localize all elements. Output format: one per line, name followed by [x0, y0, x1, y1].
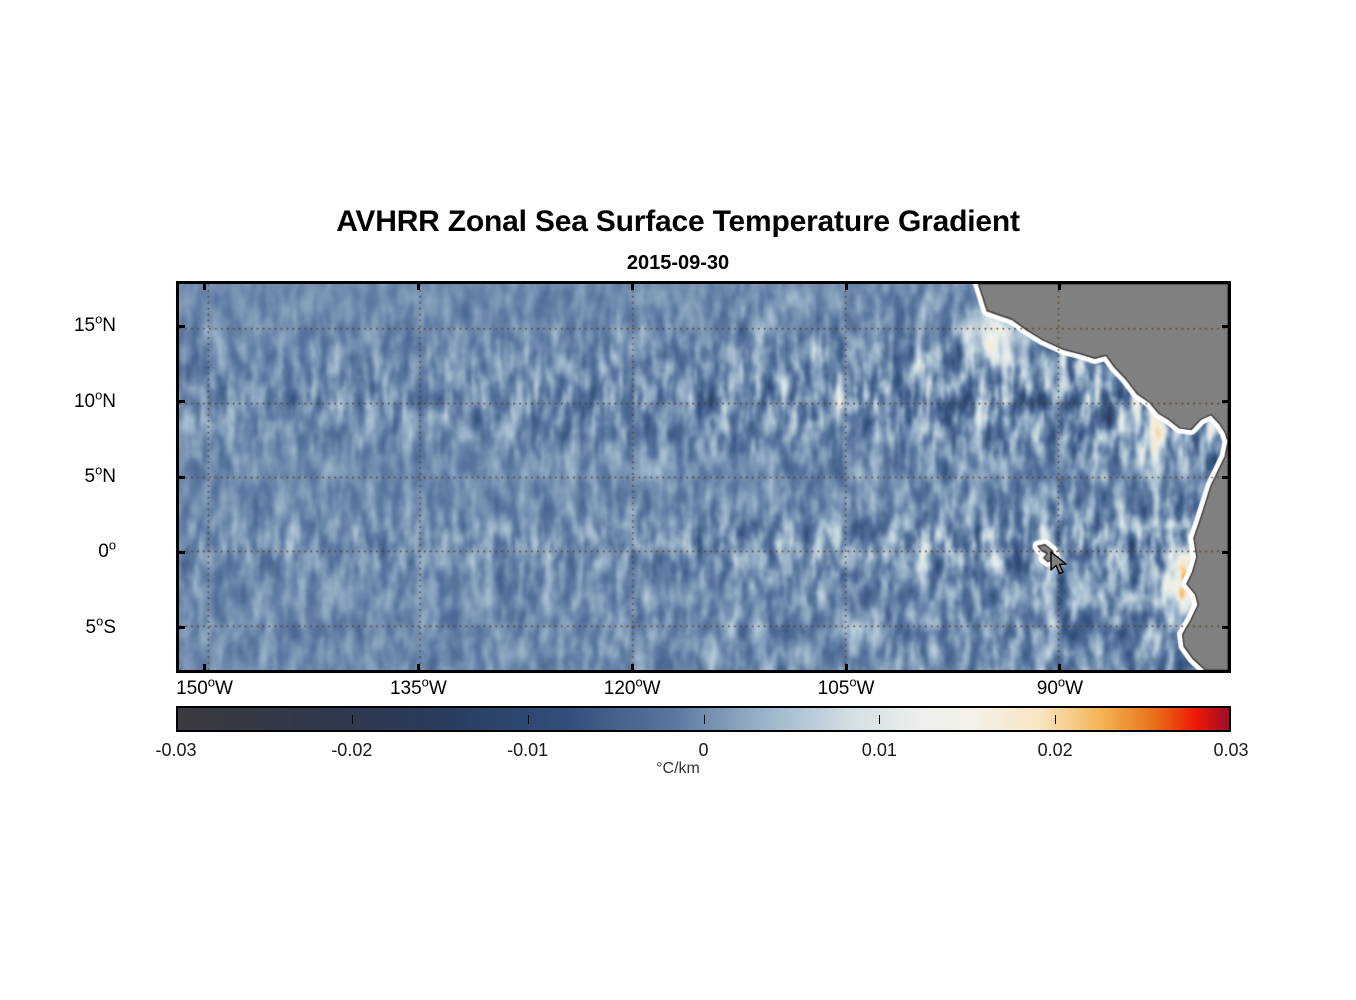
colorbar-unit-label: °C/km	[0, 760, 1356, 778]
colorbar-tick-label: 0.01	[862, 740, 897, 761]
y-tick-label: 15oN	[74, 315, 116, 337]
y-tick-mark	[1222, 551, 1231, 554]
y-tick-label: 0o	[98, 541, 116, 563]
y-tick-label: 5oS	[86, 617, 116, 639]
colorbar-unit-text: °C/km	[656, 760, 700, 777]
x-tick-mark	[417, 664, 420, 673]
x-tick-mark	[203, 664, 206, 673]
y-tick-mark	[1222, 476, 1231, 479]
colorbar-tick-label: 0.02	[1038, 740, 1073, 761]
y-tick-mark	[176, 400, 185, 403]
y-tick-mark	[1222, 325, 1231, 328]
colorbar-tick-mark	[528, 715, 529, 724]
colorbar-tick-mark	[879, 715, 880, 724]
map-axes	[176, 281, 1231, 673]
colorbar-tick-label: -0.01	[507, 740, 548, 761]
x-tick-label: 120oW	[604, 678, 661, 700]
colorbar-tick-label: 0	[698, 740, 708, 761]
x-tick-mark	[845, 664, 848, 673]
y-tick-mark	[176, 626, 185, 629]
figure-root: AVHRR Zonal Sea Surface Temperature Grad…	[0, 0, 1356, 1000]
x-tick-label: 90oW	[1037, 678, 1083, 700]
y-tick-mark	[176, 551, 185, 554]
colorbar-tick-mark	[1055, 715, 1056, 724]
colorbar-tick-mark	[352, 715, 353, 724]
colorbar-tick-label: 0.03	[1213, 740, 1248, 761]
x-tick-mark	[845, 281, 848, 290]
x-tick-mark	[417, 281, 420, 290]
y-tick-mark	[1222, 400, 1231, 403]
x-tick-mark	[631, 664, 634, 673]
colorbar-tick-label: -0.02	[331, 740, 372, 761]
chart-subtitle: 2015-09-30	[0, 252, 1356, 275]
gridlines	[179, 284, 1228, 670]
y-tick-label: 5oN	[85, 466, 117, 488]
y-tick-mark	[176, 476, 185, 479]
colorbar-tick-label: -0.03	[155, 740, 196, 761]
x-tick-label: 150oW	[176, 678, 233, 700]
x-tick-mark	[631, 281, 634, 290]
x-tick-mark	[203, 281, 206, 290]
x-tick-mark	[1058, 281, 1061, 290]
y-tick-label: 10oN	[74, 391, 116, 413]
x-tick-label: 135oW	[390, 678, 447, 700]
colorbar-tick-mark	[704, 715, 705, 724]
x-tick-mark	[1058, 664, 1061, 673]
y-tick-mark	[1222, 626, 1231, 629]
x-tick-label: 105oW	[818, 678, 875, 700]
chart-title: AVHRR Zonal Sea Surface Temperature Grad…	[0, 205, 1356, 239]
y-tick-mark	[176, 325, 185, 328]
